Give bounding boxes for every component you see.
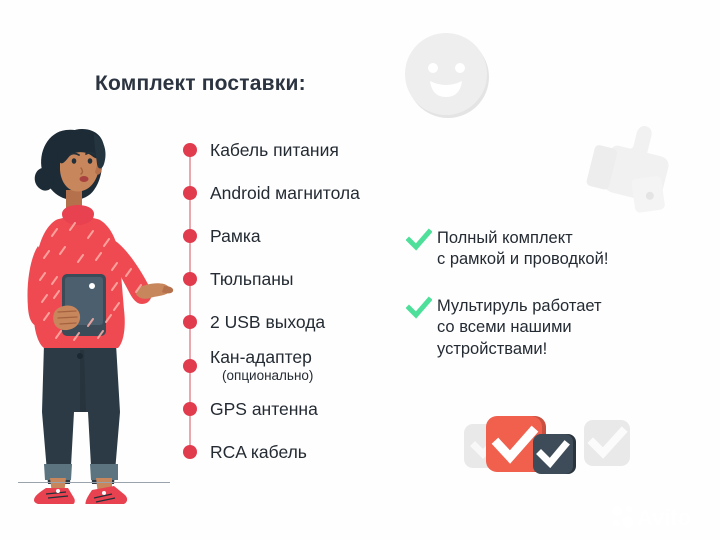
- list-item-label: GPS антенна: [210, 399, 318, 419]
- checkbox-cluster-icon: [462, 410, 632, 490]
- bullet-dot-icon: [183, 359, 197, 373]
- list-item-label: RCA кабель: [210, 442, 307, 462]
- benefit-text: Мультируль работает со всеми нашими устр…: [437, 296, 602, 360]
- avito-dots-logo: [612, 505, 634, 527]
- check-icon: [406, 295, 432, 321]
- benefit-line: Полный комплект: [437, 228, 608, 249]
- benefit-line: Мультируль работает: [437, 296, 602, 317]
- bullet-dot-icon: [183, 315, 197, 329]
- thumbs-up-icon: [578, 112, 682, 216]
- supply-list: Кабель питания Android магнитола Рамка Т…: [170, 128, 410, 474]
- list-item-label: Рамка: [210, 226, 261, 246]
- bullet-dot-icon: [183, 186, 197, 200]
- list-item-label: 2 USB выхода: [210, 312, 325, 332]
- benefit-line: со всеми нашими: [437, 317, 602, 338]
- list-item: Кабель питания: [170, 128, 410, 171]
- list-item-label: Android магнитола: [210, 183, 360, 203]
- list-item: Android магнитола: [170, 171, 410, 214]
- woman-pointing-illustration: [8, 112, 180, 504]
- list-item: RCA кабель: [170, 430, 410, 473]
- benefit-line: с рамкой и проводкой!: [437, 249, 608, 270]
- bullet-dot-icon: [183, 229, 197, 243]
- benefit-line: устройствами!: [437, 339, 602, 360]
- list-item: Кан-адаптер (опционально): [170, 344, 410, 387]
- avito-wordmark: Avito: [637, 505, 691, 530]
- list-item-label: Кан-адаптер: [210, 347, 312, 367]
- list-item: Тюльпаны: [170, 258, 410, 301]
- list-item: Рамка: [170, 214, 410, 257]
- bullet-dot-icon: [183, 402, 197, 416]
- benefit-block: Полный комплект с рамкой и проводкой!: [406, 228, 608, 271]
- list-item-label: Кабель питания: [210, 140, 339, 160]
- check-icon: [406, 227, 432, 253]
- list-item: GPS антенна: [170, 387, 410, 430]
- benefit-text: Полный комплект с рамкой и проводкой!: [437, 228, 608, 271]
- list-item-label: Тюльпаны: [210, 269, 293, 289]
- avito-watermark: Avito: [610, 502, 710, 532]
- bullet-dot-icon: [183, 143, 197, 157]
- smiley-face-icon: [399, 27, 495, 123]
- ground-line: [18, 482, 170, 483]
- page-title: Комплект поставки:: [95, 72, 306, 96]
- bullet-dot-icon: [183, 445, 197, 459]
- bullet-dot-icon: [183, 272, 197, 286]
- promo-image: Комплект поставки:: [0, 0, 720, 540]
- benefit-block: Мультируль работает со всеми нашими устр…: [406, 296, 602, 360]
- list-item-sublabel: (опционально): [222, 368, 313, 383]
- list-item: 2 USB выхода: [170, 301, 410, 344]
